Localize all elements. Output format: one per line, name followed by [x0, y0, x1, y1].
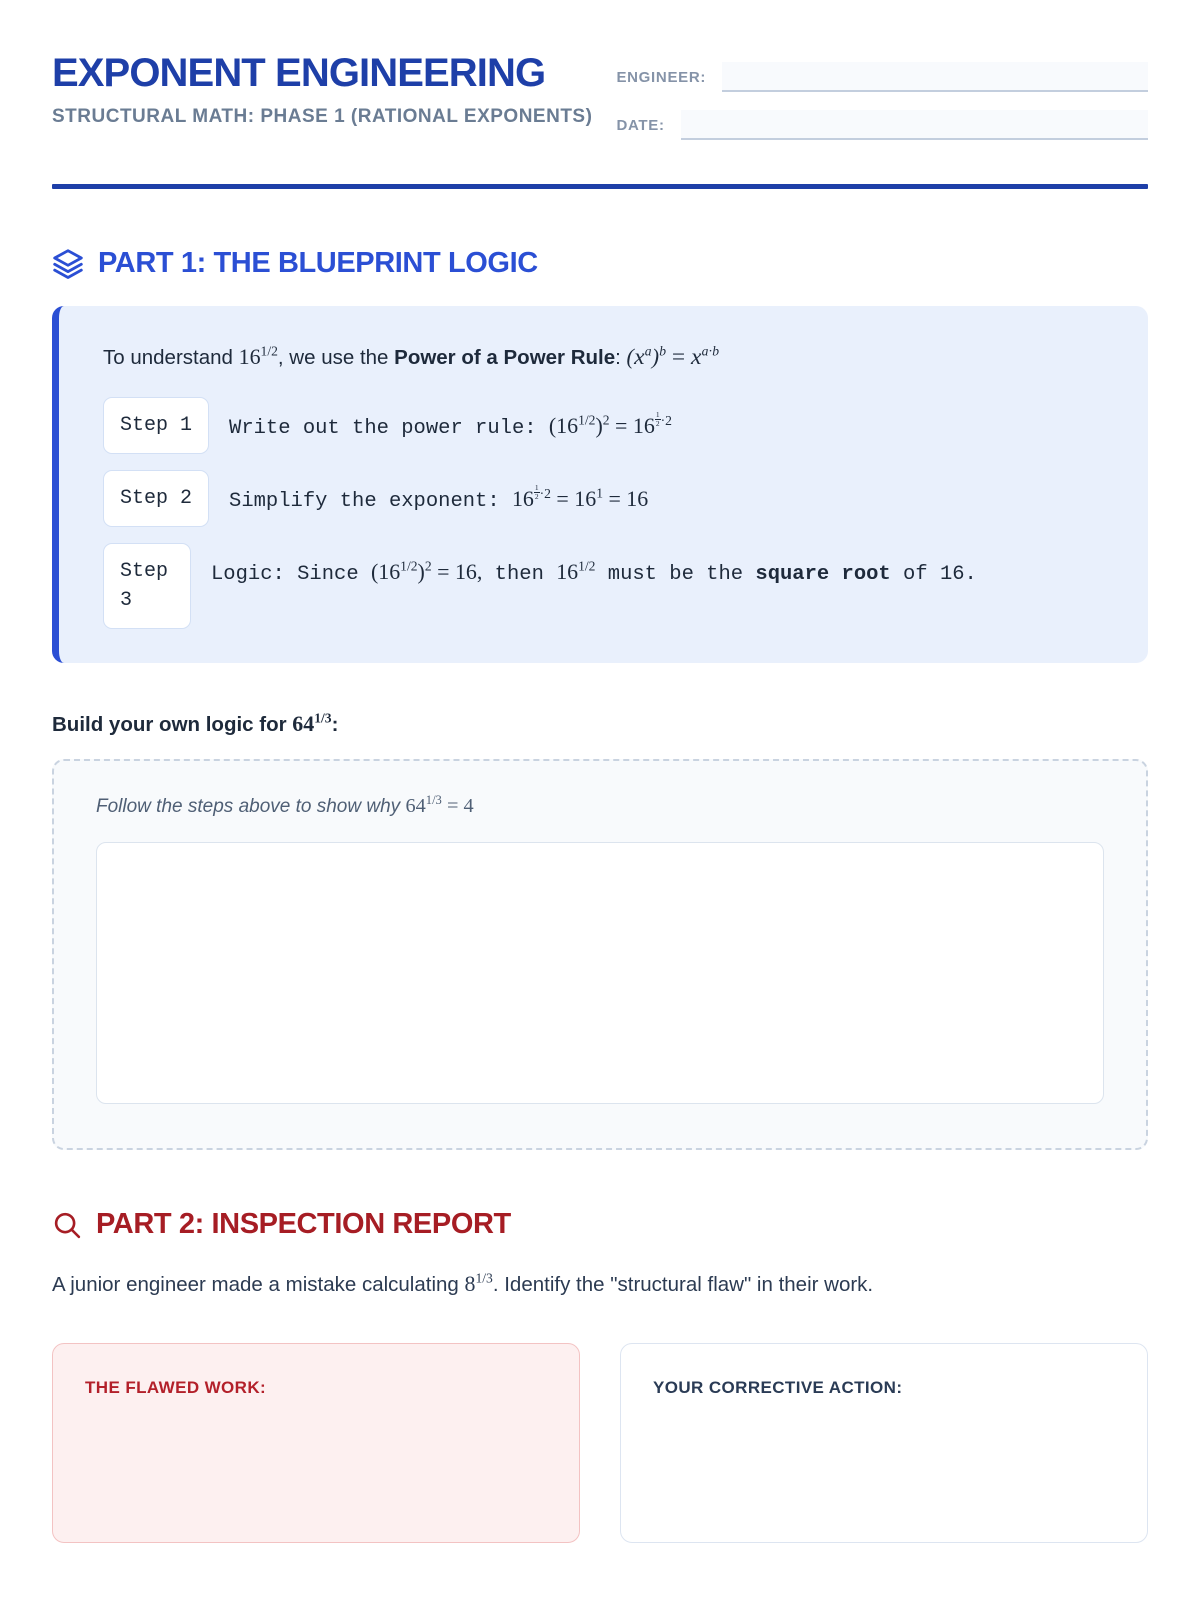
- part1-heading: PART 1: THE BLUEPRINT LOGIC: [52, 247, 1148, 280]
- header-titles: EXPONENT ENGINEERING STRUCTURAL MATH: PH…: [52, 52, 592, 130]
- corrective-action-title: YOUR CORRECTIVE ACTION:: [653, 1378, 1115, 1398]
- callout-intro: To understand 161/2, we use the Power of…: [103, 340, 1110, 375]
- worksheet-page: EXPONENT ENGINEERING STRUCTURAL MATH: PH…: [0, 0, 1200, 1543]
- build-your-own-box: Follow the steps above to show why 641/3…: [52, 759, 1148, 1150]
- layers-icon: [52, 248, 84, 280]
- intro-lead: To understand: [103, 346, 239, 369]
- step3-bold: square root: [755, 563, 890, 586]
- intro-colon: :: [615, 346, 626, 369]
- step-text-1: Write out the power rule: (161/2)2 = 161…: [229, 397, 672, 446]
- step-row-1: Step 1 Write out the power rule: (161/2)…: [103, 397, 1110, 454]
- document-header: EXPONENT ENGINEERING STRUCTURAL MATH: PH…: [52, 52, 1148, 158]
- step2-math: 1612·2 = 161 = 16: [512, 486, 648, 511]
- intro-mid: , we use the: [278, 346, 394, 369]
- flawed-work-title: THE FLAWED WORK:: [85, 1378, 547, 1398]
- page-subtitle: STRUCTURAL MATH: PHASE 1 (RATIONAL EXPON…: [52, 104, 592, 130]
- engineer-field-row: ENGINEER:: [616, 62, 1148, 92]
- part2-heading: PART 2: INSPECTION REPORT: [52, 1208, 1148, 1241]
- date-field-row: DATE:: [616, 110, 1148, 140]
- flawed-work-card: THE FLAWED WORK:: [52, 1343, 580, 1543]
- step-badge-1: Step 1: [103, 397, 209, 454]
- header-fields: ENGINEER: DATE:: [592, 52, 1148, 158]
- blueprint-callout: To understand 161/2, we use the Power of…: [52, 306, 1148, 663]
- engineer-label: ENGINEER:: [616, 69, 706, 86]
- date-label: DATE:: [616, 117, 664, 134]
- inspection-cards: THE FLAWED WORK: YOUR CORRECTIVE ACTION:: [52, 1343, 1148, 1543]
- part2-body-text: A junior engineer made a mistake calcula…: [52, 1267, 1142, 1301]
- step-badge-3: Step 3: [103, 543, 191, 629]
- step1-math: (161/2)2 = 1612·2: [549, 413, 672, 438]
- step-text-3: Logic: Since (161/2)2 = 16, then 161/2 m…: [211, 543, 977, 592]
- power-rule-formula: (xa)b = xa·b: [627, 344, 720, 369]
- part2-expr: 81/3: [465, 1271, 493, 1296]
- header-divider: [52, 184, 1148, 189]
- corrective-action-card[interactable]: YOUR CORRECTIVE ACTION:: [620, 1343, 1148, 1543]
- step-row-2: Step 2 Simplify the exponent: 1612·2 = 1…: [103, 470, 1110, 527]
- build-answer-input[interactable]: [96, 842, 1104, 1104]
- rule-name: Power of a Power Rule: [394, 346, 615, 369]
- build-your-own-label: Build your own logic for 641/3:: [52, 711, 1148, 737]
- date-input[interactable]: [681, 110, 1148, 140]
- page-title: EXPONENT ENGINEERING: [52, 52, 592, 94]
- intro-expr1: 161/2: [239, 344, 278, 369]
- build-expr: 641/3: [292, 711, 331, 736]
- magnifier-icon: [52, 1210, 82, 1240]
- part2-title: PART 2: INSPECTION REPORT: [96, 1208, 511, 1241]
- engineer-input[interactable]: [722, 62, 1148, 92]
- step-row-3: Step 3 Logic: Since (161/2)2 = 16, then …: [103, 543, 1110, 629]
- step-text-2: Simplify the exponent: 1612·2 = 161 = 16: [229, 470, 648, 519]
- step-badge-2: Step 2: [103, 470, 209, 527]
- build-hint-math: 641/3 = 4: [405, 795, 473, 817]
- part1-title: PART 1: THE BLUEPRINT LOGIC: [98, 247, 538, 280]
- step3-math: (161/2)2 = 16,: [371, 559, 482, 584]
- build-hint: Follow the steps above to show why 641/3…: [96, 795, 1104, 818]
